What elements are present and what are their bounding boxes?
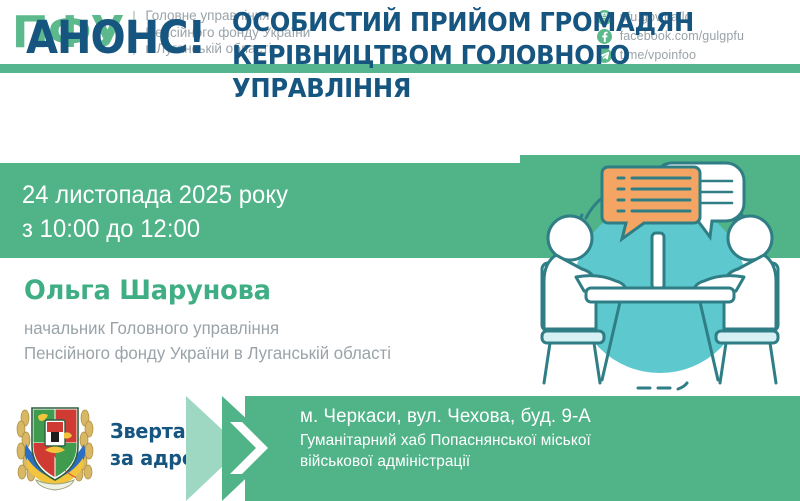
announcement-badge: АНОНС!	[26, 14, 205, 62]
footer-address-sub: Гуманітарний хаб Попаснянської міської в…	[300, 430, 591, 472]
schedule-text: 24 листопада 2025 року з 10:00 до 12:00	[22, 178, 288, 246]
official-name: Ольга Шарунова	[24, 276, 271, 306]
coat-of-arms-icon	[12, 400, 98, 492]
official-role: начальник Головного управління Пенсійног…	[24, 316, 391, 366]
footer-address-main: м. Черкаси, вул. Чехова, буд. 9-А	[300, 404, 591, 429]
page-title: ОСОБИСТИЙ ПРИЙОМ ГРОМАДЯН КЕРІВНИЦТВОМ Г…	[232, 7, 760, 106]
chevron-right-icon	[186, 396, 296, 501]
meeting-illustration-icon	[520, 155, 800, 400]
announcement-poster: ПФУ Головне управління Пенсійного фонду …	[0, 0, 800, 501]
footer-address: м. Черкаси, вул. Чехова, буд. 9-А Гумані…	[300, 404, 591, 472]
